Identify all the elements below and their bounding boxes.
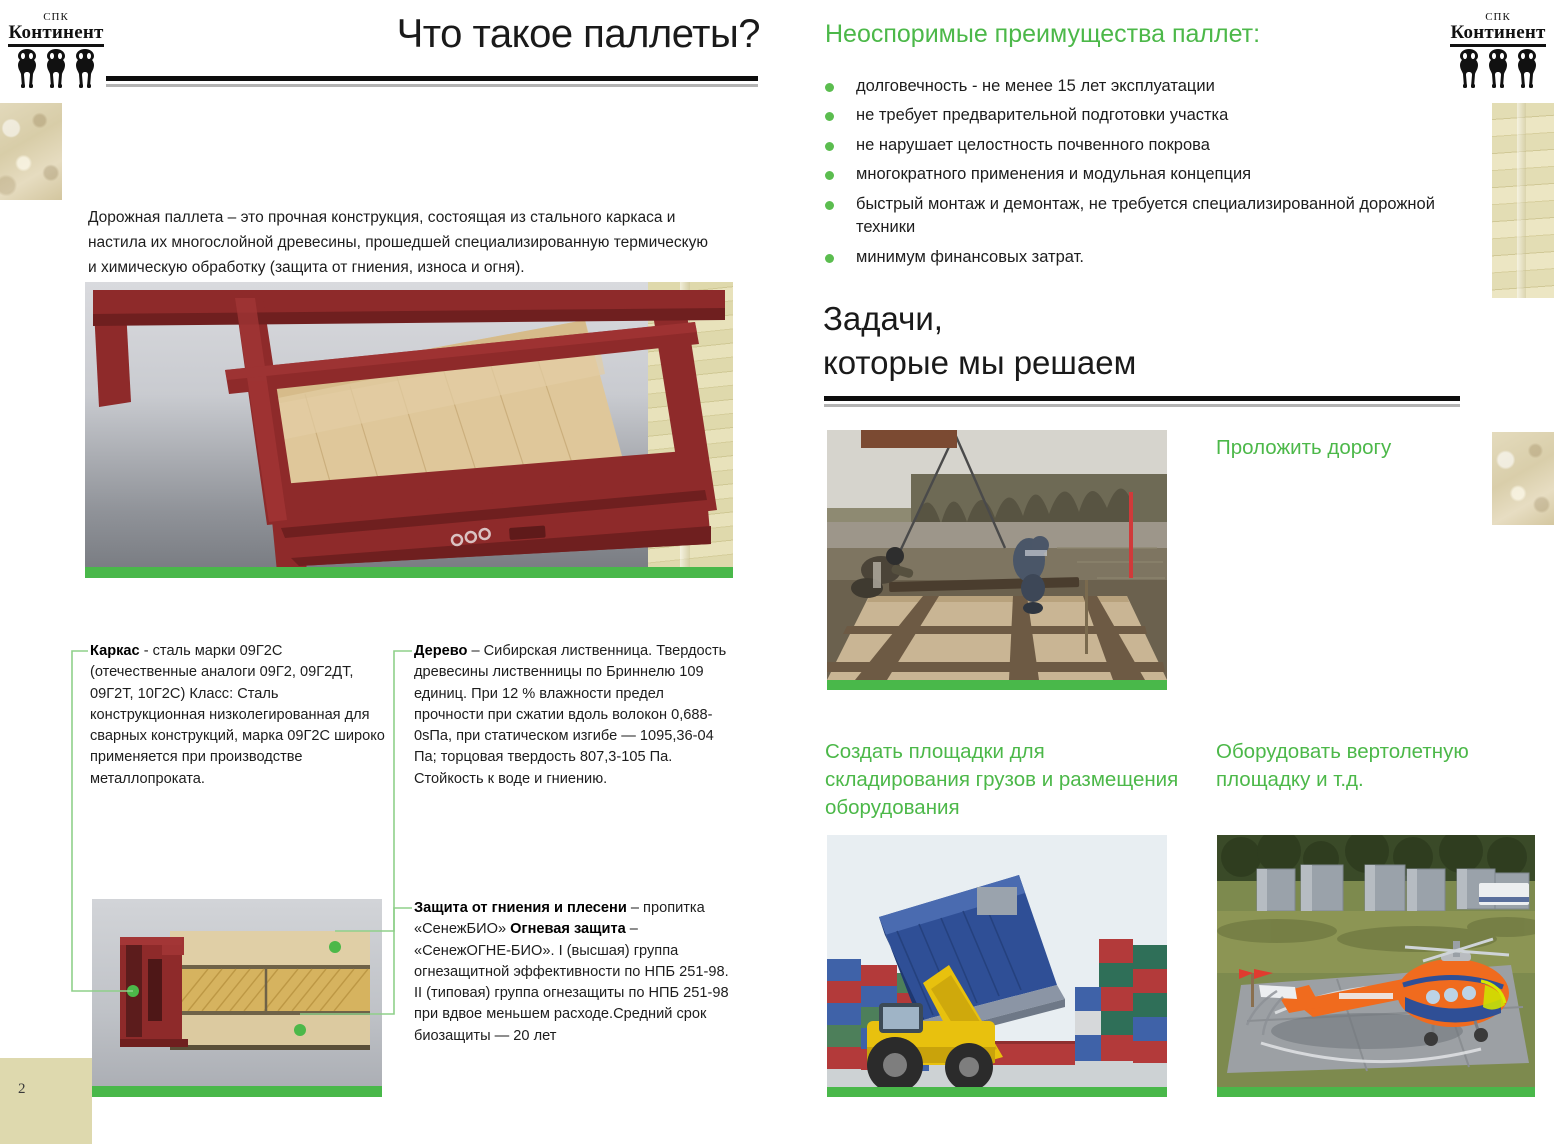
pallet-cross-section-image: [92, 899, 382, 1097]
tasks-title: Задачи, которые мы решаем: [823, 297, 1136, 385]
page-title-left: Что такое паллеты?: [120, 14, 760, 54]
elephant-icon: [42, 47, 70, 89]
helipad-graphic: [1217, 835, 1535, 1097]
advantage-text: не требует предварительной подготовки уч…: [856, 104, 1228, 127]
container-yard-graphic: [827, 835, 1167, 1097]
green-accent-bar: [92, 1086, 382, 1097]
callout-wood: Дерево – Сибирская лиственница. Твердост…: [414, 641, 732, 790]
callout-protection-body-2: – «СенежОГНЕ-БИО». I (высшая) группа огн…: [414, 921, 729, 1043]
advantage-text: минимум финансовых затрат.: [856, 246, 1084, 269]
sand-texture-swatch-right: [1492, 432, 1554, 525]
advantage-text: быстрый монтаж и демонтаж, не требуется …: [856, 193, 1465, 240]
green-accent-bar: [827, 1087, 1167, 1097]
bullet-dot-icon: [825, 142, 834, 151]
green-accent-bar: [85, 567, 733, 578]
task-caption-road: Проложить дорогу: [1216, 434, 1476, 462]
callout-protection-heading-2: Огневая защита: [510, 921, 626, 937]
title-rule-thin: [106, 84, 758, 87]
advantages-list: долговечность - не менее 15 лет эксплуат…: [825, 75, 1465, 275]
page-spine: [777, 0, 778, 1144]
advantage-text: не нарушает целостность почвенного покро…: [856, 134, 1210, 157]
callout-frame-body: - сталь марки 09Г2С (отечественные анало…: [90, 643, 385, 787]
title-rule-thick: [106, 76, 758, 81]
callout-frame-heading: Каркас: [90, 643, 140, 659]
list-item: долговечность - не менее 15 лет эксплуат…: [825, 75, 1465, 98]
pallet-3d-render-image: [85, 282, 733, 578]
task-caption-helipad: Оборудовать вертолетную площадку и т.д.: [1216, 738, 1516, 794]
cross-section-graphic: [92, 899, 382, 1097]
callout-wood-body: – Сибирская лиственница. Твердость древе…: [414, 643, 726, 787]
brochure-spread: СПК Континент Что такое паллеты? Дорожн: [0, 0, 1554, 1144]
task-caption-storage: Создать площадки для складирования грузо…: [825, 738, 1185, 822]
container-yard-photo: [827, 835, 1167, 1097]
road-over-water-graphic: [827, 430, 1167, 690]
callout-protection-heading: Защита от гниения и плесени: [414, 900, 627, 916]
callout-wood-heading: Дерево: [414, 643, 467, 659]
page-number-block: [0, 1058, 92, 1144]
green-accent-bar: [827, 680, 1167, 690]
logo-name-text: Континент: [1450, 23, 1546, 43]
elephant-icon: [71, 47, 99, 89]
elephant-icon-group: [8, 47, 104, 89]
advantage-text: многократного применения и модульная кон…: [856, 163, 1251, 186]
sand-texture-swatch-left: [0, 103, 62, 200]
advantage-text: долговечность - не менее 15 лет эксплуат…: [856, 75, 1215, 98]
green-accent-bar: [1217, 1087, 1535, 1097]
tasks-title-line1: Задачи,: [823, 297, 1136, 341]
list-item: многократного применения и модульная кон…: [825, 163, 1465, 186]
tasks-title-line2: которые мы решаем: [823, 341, 1136, 385]
tasks-rule-thick: [824, 396, 1460, 401]
tasks-rule-thin: [824, 404, 1460, 407]
list-item: быстрый монтаж и демонтаж, не требуется …: [825, 193, 1465, 240]
road-over-water-photo: [827, 430, 1167, 690]
intro-paragraph: Дорожная паллета – это прочная конструкц…: [88, 205, 713, 280]
logo-left: СПК Континент: [8, 12, 104, 89]
bullet-dot-icon: [825, 254, 834, 263]
pallet-frame-graphic: [85, 282, 733, 578]
elephant-icon: [13, 47, 41, 89]
helipad-helicopter-photo: [1217, 835, 1535, 1097]
list-item: не требует предварительной подготовки уч…: [825, 104, 1465, 127]
bullet-dot-icon: [825, 171, 834, 180]
list-item: не нарушает целостность почвенного покро…: [825, 134, 1465, 157]
callout-protection: Защита от гниения и плесени – пропитка «…: [414, 898, 732, 1047]
elephant-icon: [1484, 47, 1512, 89]
advantages-title: Неоспоримые преимущества паллет:: [825, 20, 1260, 49]
callout-frame: Каркас - сталь марки 09Г2С (отечественны…: [90, 641, 390, 790]
bullet-dot-icon: [825, 112, 834, 121]
elephant-icon: [1513, 47, 1541, 89]
bullet-dot-icon: [825, 83, 834, 92]
wood-texture-swatch-right: [1492, 103, 1554, 298]
list-item: минимум финансовых затрат.: [825, 246, 1465, 269]
bullet-dot-icon: [825, 201, 834, 210]
logo-name-text: Континент: [8, 23, 104, 43]
page-number: 2: [18, 1081, 26, 1098]
